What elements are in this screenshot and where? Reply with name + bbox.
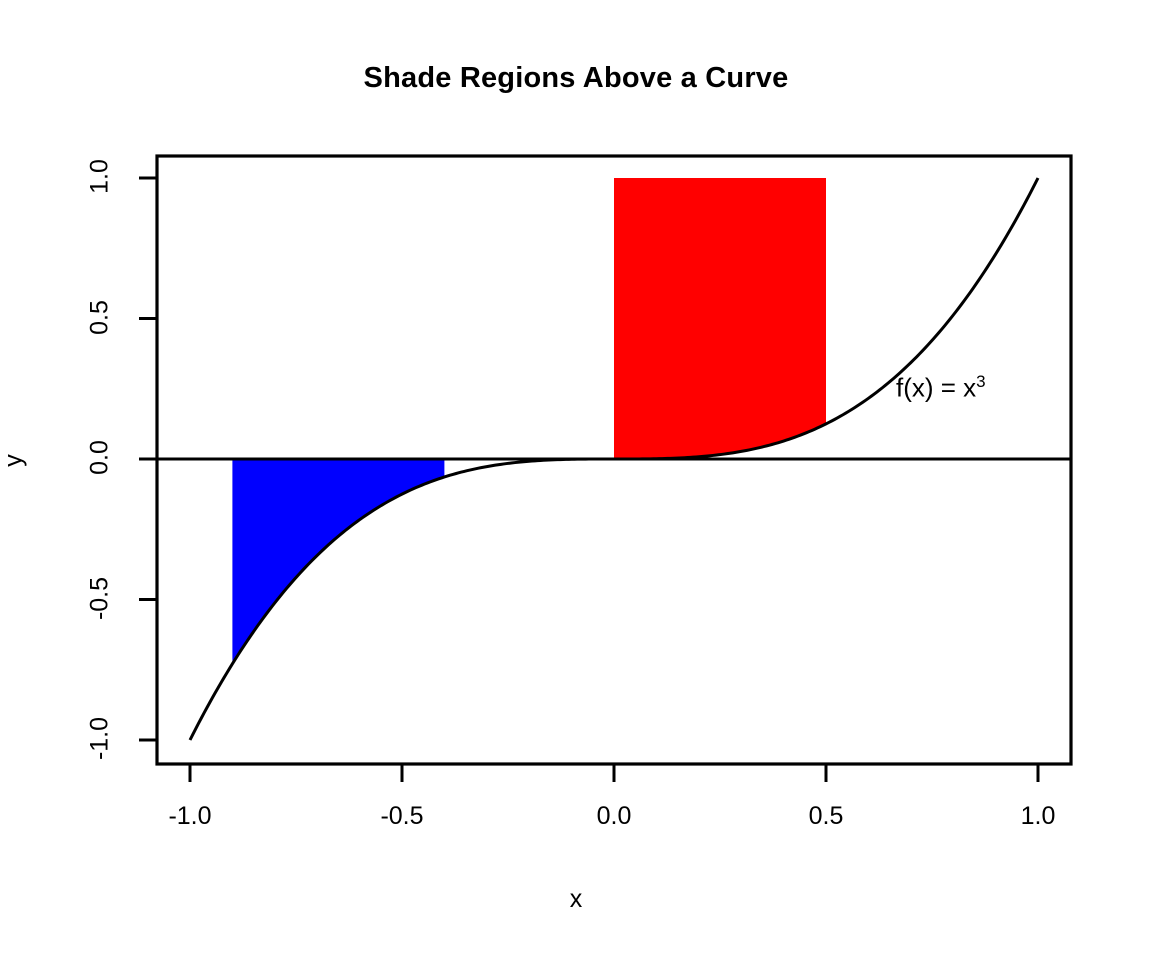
x-axis-label: x [0, 885, 1152, 914]
y-tick-label: -1.0 [86, 694, 115, 784]
red-region [614, 178, 826, 459]
chart-canvas: Shade Regions Above a Curve y x -1.0-0.5… [0, 0, 1152, 960]
annotation-base: f(x) = x [896, 373, 976, 403]
x-tick-label: -0.5 [357, 802, 447, 831]
x-tick-label: 0.0 [569, 802, 659, 831]
x-tick-label: 1.0 [993, 802, 1083, 831]
y-axis-label: y [0, 421, 29, 501]
y-tick-label: 0.0 [86, 413, 115, 503]
y-tick-label: 0.5 [86, 272, 115, 362]
x-tick-label: 0.5 [781, 802, 871, 831]
y-tick-label: 1.0 [86, 132, 115, 222]
curve-equation-annotation: f(x) = x3 [896, 372, 986, 404]
x-tick-label: -1.0 [145, 802, 235, 831]
annotation-exponent: 3 [976, 372, 985, 391]
y-tick-label: -0.5 [86, 553, 115, 643]
